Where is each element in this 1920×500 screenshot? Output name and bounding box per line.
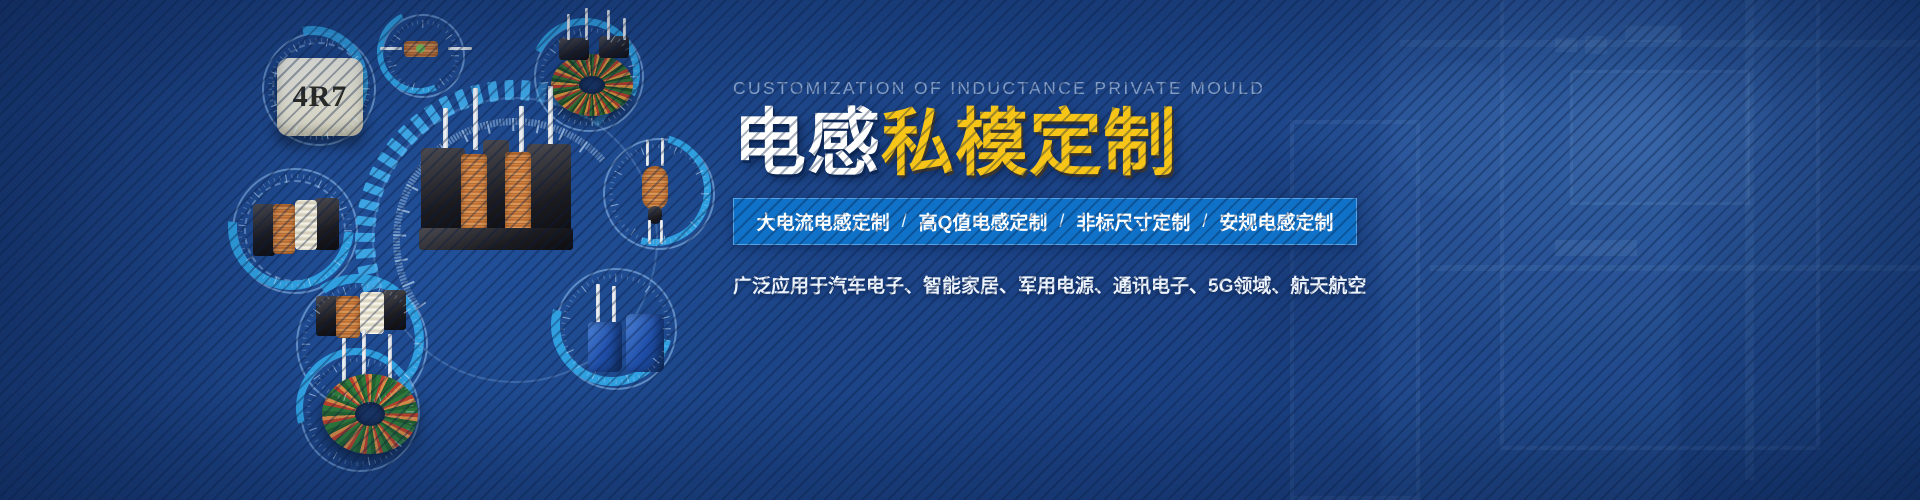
hud-ring-tick xyxy=(326,131,329,139)
hud-ring-tick xyxy=(566,305,570,308)
feature-list: 大电流电感定制 / 高Q值电感定制 / 非标尺寸定制 / 安规电感定制 xyxy=(757,208,1334,235)
hud-ring-tick xyxy=(348,224,352,226)
hud-ring-tick xyxy=(612,176,616,179)
hud-ring-tick xyxy=(410,313,414,316)
hud-ring-tick xyxy=(374,360,376,364)
hud-ring-tick xyxy=(410,417,414,419)
hud-ring-tick xyxy=(389,452,393,456)
hud-ring-tick xyxy=(268,94,272,96)
hud-ring-tick xyxy=(315,136,317,140)
hud-ring-tick xyxy=(543,58,547,61)
hud-ring-tick xyxy=(332,365,337,373)
hud-ring-tick xyxy=(564,345,568,348)
hud-ring-tick xyxy=(348,236,352,238)
hud-ring-tick xyxy=(406,411,414,412)
hud-ring-tick xyxy=(342,129,345,133)
hud-ring-green-toroid-ticks xyxy=(300,352,420,472)
hud-ring-tick xyxy=(659,299,663,302)
hud-ring-tick xyxy=(298,42,301,46)
feature-bar[interactable]: 大电流电感定制 / 高Q值电感定制 / 非标尺寸定制 / 安规电感定制 xyxy=(733,198,1357,245)
hud-ring-tick xyxy=(553,43,557,47)
feature-item-1[interactable]: 高Q值电感定制 xyxy=(919,208,1048,235)
hud-ring-tick xyxy=(641,147,645,155)
hud-ring-tick xyxy=(569,356,573,359)
hud-ring-tick xyxy=(652,240,654,244)
hud-ring-axial-ticks xyxy=(381,14,465,98)
hud-ring-tick xyxy=(699,215,703,218)
choke-core-left xyxy=(421,148,465,240)
hud-ring-tick xyxy=(306,405,310,407)
hud-ring-tick xyxy=(569,299,573,302)
hud-ring-tick xyxy=(285,175,288,183)
hud-ring-tick xyxy=(637,279,640,283)
hud-ring-tick xyxy=(625,156,629,160)
hud-ring-tick xyxy=(602,30,605,34)
hud-ring-tick xyxy=(546,98,550,101)
hud-ring-tick xyxy=(564,310,568,313)
hud-ring-tick xyxy=(406,84,409,88)
hud-ring-tick xyxy=(543,93,547,96)
hud-ring-tick xyxy=(628,98,632,101)
hud-ring-tick xyxy=(597,277,600,281)
hud-ring-tick xyxy=(334,260,341,266)
hud-ring-tick xyxy=(628,53,632,56)
hud-ring-tick xyxy=(337,196,341,200)
hud-ring-tick xyxy=(417,331,421,333)
hud-ring-tick xyxy=(562,35,565,39)
hud-ring-tick xyxy=(561,334,565,336)
hud-ring-tick xyxy=(307,366,311,369)
hud-ring-tick xyxy=(258,271,262,275)
hud-ring-tick xyxy=(246,256,254,261)
hud-ring-tick xyxy=(285,283,287,287)
hud-ring-tick xyxy=(663,328,671,329)
hud-ring-tick xyxy=(241,212,245,215)
hud-ring-tick xyxy=(283,51,287,55)
hud-ring-tick xyxy=(573,294,577,298)
eyebrow-text: CUSTOMIZATION OF INDUCTANCE PRIVATE MOUL… xyxy=(733,78,1393,99)
hud-ring-tick xyxy=(641,237,644,241)
hud-ring-tick xyxy=(453,65,457,68)
hud-ring-tick xyxy=(408,399,412,401)
hud-ring-tick xyxy=(445,78,449,82)
hud-ring-tick xyxy=(401,382,405,385)
hud-ring-tick xyxy=(307,278,310,286)
hud-ring-tick xyxy=(410,371,414,374)
hud-ring-tick xyxy=(591,118,593,126)
feature-separator-2: / xyxy=(1190,211,1219,232)
hud-ring-tick xyxy=(238,230,242,231)
hud-ring-tick xyxy=(313,308,320,314)
hud-ring-tick xyxy=(269,99,273,101)
hud-ring-tick xyxy=(249,196,253,200)
hud-ring-tick xyxy=(635,234,638,238)
hud-ring-tick xyxy=(384,365,387,369)
hud-ring-tick xyxy=(658,144,659,148)
hud-ring-tick xyxy=(362,358,364,362)
hud-ring-tick xyxy=(395,377,402,383)
hud-ring-tick xyxy=(350,461,352,465)
hud-ring-tick xyxy=(304,134,306,138)
hud-ring-tick xyxy=(417,355,421,357)
hud-ring-toroid-top-ticks xyxy=(534,22,644,132)
hud-ring-tick xyxy=(262,183,265,187)
hud-ring-tick xyxy=(351,51,355,55)
hud-ring-tick xyxy=(581,286,587,293)
hud-ring-tick xyxy=(615,274,616,282)
hud-ring-tick xyxy=(311,387,315,390)
hud-ring-tick xyxy=(239,242,243,244)
hud-ring-tick xyxy=(629,64,637,67)
hud-ring-tick xyxy=(345,247,349,250)
hud-ring-tick xyxy=(321,299,325,303)
hud-ring-tick xyxy=(317,180,322,188)
hud-ring-tick xyxy=(363,71,367,74)
hud-ring-tick xyxy=(703,181,707,183)
hud-ring-tick xyxy=(627,275,629,279)
hud-ring-tick xyxy=(379,458,382,462)
hud-ring-tick xyxy=(549,103,553,106)
hud-ring-tick xyxy=(667,334,671,336)
hud-ring-tick xyxy=(652,358,659,364)
hud-ring-tick xyxy=(557,108,563,115)
hud-ring-tick xyxy=(404,434,408,437)
hud-ring-tick xyxy=(288,126,292,130)
hud-ring-tick xyxy=(344,360,346,364)
hud-ring-tick xyxy=(279,56,283,60)
hud-ring-blue-inductor-ticks xyxy=(555,268,677,390)
hud-ring-tick xyxy=(415,361,419,364)
hud-ring-tick xyxy=(404,387,408,390)
hud-ring-tick xyxy=(632,377,635,381)
hud-ring-tick xyxy=(573,120,576,124)
hud-ring-tick xyxy=(690,221,697,227)
hud-ring-tick xyxy=(373,285,375,289)
hud-ring-tick xyxy=(367,359,370,367)
hud-ring-tick xyxy=(603,379,605,383)
hud-ring-tick xyxy=(634,82,638,84)
hud-ring-tick xyxy=(411,22,414,26)
hud-ring-tick xyxy=(332,40,334,44)
hud-ring-tick xyxy=(377,287,381,295)
hud-ring-tick xyxy=(411,82,415,90)
hud-ring-tick xyxy=(693,160,697,164)
hud-ring-tick xyxy=(273,109,277,112)
hud-ring-tick xyxy=(253,267,257,271)
machine-knob xyxy=(1655,222,1707,274)
feature-separator-0: / xyxy=(890,211,919,232)
hud-ring-tick xyxy=(631,93,635,96)
hud-ring-tick xyxy=(617,111,621,115)
component-common-mode-choke-large xyxy=(415,110,575,250)
hud-ring-tick xyxy=(451,70,455,73)
machine-switch-row xyxy=(1555,240,1637,256)
hud-ring-tick xyxy=(592,371,597,379)
hud-ring-tick xyxy=(262,274,265,278)
hud-ring-tick xyxy=(332,134,334,138)
hud-ring-tick xyxy=(418,349,422,351)
hud-ring-tick xyxy=(581,368,585,372)
hud-ring-tick xyxy=(645,286,651,293)
hud-ring-tick xyxy=(384,455,387,459)
hud-ring-tick xyxy=(445,34,452,40)
hud-ring-tick xyxy=(413,319,417,322)
hud-ring-tick xyxy=(658,240,659,244)
hud-ring-tick xyxy=(365,77,369,79)
hud-ring-tick xyxy=(675,237,678,241)
hud-ring-tick xyxy=(309,135,311,139)
hud-ring-tick xyxy=(655,294,659,298)
hud-ring-tick xyxy=(393,74,397,77)
hud-ring-tick xyxy=(331,292,334,296)
hud-ring-tick xyxy=(417,87,419,91)
hud-ring-tick xyxy=(630,152,633,156)
machine-arm xyxy=(1745,0,1771,150)
hud-ring-tick xyxy=(338,458,341,462)
hud-ring-tick xyxy=(591,28,593,32)
hud-ring-tick xyxy=(568,32,571,36)
hud-ring-tick xyxy=(621,224,625,228)
banner-copy: CUSTOMIZATION OF INDUCTANCE PRIVATE MOUL… xyxy=(733,78,1393,298)
hud-ring-tick xyxy=(597,29,599,33)
hud-ring-tick xyxy=(253,191,260,198)
hud-ring-tick xyxy=(393,34,400,40)
hud-ring-tick xyxy=(351,123,355,127)
hud-ring-tick xyxy=(326,39,329,47)
hud-ring-tick xyxy=(662,350,666,353)
hud-ring-tick xyxy=(243,253,247,256)
hud-ring-tick xyxy=(664,310,668,313)
hud-ring-tick xyxy=(271,103,279,107)
feature-item-2[interactable]: 非标尺寸定制 xyxy=(1076,208,1190,235)
hud-ring-tick xyxy=(669,238,671,242)
hud-ring-tick xyxy=(579,121,581,125)
hud-ring-tick xyxy=(689,228,693,232)
hud-ring-tick xyxy=(407,428,411,431)
choke-core-right xyxy=(527,144,571,236)
hud-ring-tick xyxy=(298,132,301,136)
hud-ring-tick xyxy=(406,24,409,28)
hud-ring-tick xyxy=(347,242,351,244)
hud-ring-tick xyxy=(546,53,550,56)
hud-ring-tick xyxy=(562,316,570,319)
machine-label-strip xyxy=(1625,26,1681,42)
hud-ring-tick xyxy=(387,60,391,62)
hud-ring-tick xyxy=(362,462,364,466)
headline-yellow: 私模定制 xyxy=(881,101,1177,186)
hud-ring-tick xyxy=(337,42,340,46)
hud-ring-tick xyxy=(340,201,344,204)
hud-ring-tick xyxy=(268,88,272,89)
hud-ring-tick xyxy=(609,193,613,194)
hud-ring-tick xyxy=(617,165,621,168)
hud-ring-tick xyxy=(304,40,306,44)
hud-ring-tick xyxy=(276,114,280,117)
hud-ring-tick xyxy=(413,366,417,369)
hud-ring-tick xyxy=(322,372,326,376)
hud-ring-tick xyxy=(561,328,565,329)
hud-ring-tick xyxy=(422,88,423,92)
hud-ring-tick xyxy=(340,258,344,261)
hud-ring-tick xyxy=(297,284,299,288)
feature-item-3[interactable]: 安规电感定制 xyxy=(1219,208,1333,235)
hud-ring-tick xyxy=(634,70,638,72)
hud-ring-tick xyxy=(608,117,611,121)
hud-ring-tick xyxy=(279,119,283,123)
hud-ring-tick xyxy=(448,74,452,77)
hud-ring-tick xyxy=(617,220,621,223)
hud-ring-tick xyxy=(361,284,362,288)
hud-ring-tick xyxy=(401,81,404,85)
hud-ring-tick xyxy=(408,423,412,425)
hud-ring-tick xyxy=(258,187,262,191)
hud-ring-tick xyxy=(324,183,327,187)
hud-ring-tick xyxy=(579,29,582,37)
hud-ring-tick xyxy=(243,206,247,209)
hud-ring-tick xyxy=(696,170,704,175)
hud-ring-tick xyxy=(540,81,548,83)
page-title: 电感私模定制 xyxy=(733,107,1393,181)
machine-indicator-a xyxy=(1555,38,1577,52)
hud-ring-tick xyxy=(350,359,352,363)
hud-ring-tick xyxy=(273,276,277,284)
hud-ring-tick xyxy=(293,44,298,52)
hud-ring-tick xyxy=(441,26,444,30)
hud-ring-tick xyxy=(345,212,349,215)
tagline-text: 广泛应用于汽车电子、智能家居、军用电源、通讯电子、5G领域、航天航空 xyxy=(733,271,1393,298)
hud-ring-tick xyxy=(303,283,305,287)
hud-ring-tick xyxy=(343,253,347,256)
hud-ring-tick xyxy=(586,282,589,286)
headline-white: 电感 xyxy=(733,101,881,186)
hud-ring-flatwire-ticks xyxy=(232,168,358,294)
hud-ring-tick xyxy=(306,411,310,412)
hud-ring-tick xyxy=(631,58,635,61)
hud-ring-tick xyxy=(329,271,333,275)
hud-ring-tick xyxy=(349,285,351,289)
machine-indicator-b xyxy=(1585,36,1607,54)
hud-ring-tick xyxy=(268,180,271,184)
hud-ring-tick xyxy=(387,55,391,56)
hud-ring-tick xyxy=(347,218,351,220)
hud-ring-tick xyxy=(610,203,618,206)
hud-ring-tick xyxy=(291,174,293,178)
hud-ring-tick xyxy=(306,417,310,419)
hud-ring-tick xyxy=(399,299,403,303)
hud-ring-tick xyxy=(279,176,281,180)
hud-ring-tick xyxy=(597,121,599,125)
hud-ring-tick xyxy=(384,289,387,293)
hud-ring-tick xyxy=(705,187,709,189)
hud-ring-tick xyxy=(585,122,587,126)
hud-ring-tick xyxy=(333,191,337,195)
hud-ring-tick xyxy=(403,303,407,307)
hud-ring-tick xyxy=(540,70,544,72)
hud-ring-tick xyxy=(541,88,545,90)
hud-ring-tick xyxy=(453,44,457,47)
hud-ring-tick xyxy=(309,39,311,43)
hud-ring-tick xyxy=(307,399,311,401)
feature-item-0[interactable]: 大电流电感定制 xyxy=(757,208,890,235)
hud-ring-tick xyxy=(358,60,362,63)
hud-ring-tick xyxy=(249,263,253,267)
hud-ring-tick xyxy=(669,145,671,149)
hud-ring-tick xyxy=(573,360,577,364)
hud-ring-tick xyxy=(276,60,280,63)
hud-ring-rodcore-ticks xyxy=(603,138,715,250)
machine-panel-frame xyxy=(1500,0,1820,450)
hud-ring-tick xyxy=(664,345,668,348)
hud-ring-tick xyxy=(337,289,340,293)
hud-ring-tick xyxy=(343,287,347,295)
hud-ring-tick xyxy=(618,105,625,111)
hud-ring-tick xyxy=(568,117,571,121)
hud-ring-tick xyxy=(239,218,243,220)
hud-ring-tick xyxy=(422,20,423,28)
hud-ring-tick xyxy=(610,181,614,183)
hud-ring-tick xyxy=(696,220,700,223)
hud-ring-tick xyxy=(273,65,277,68)
hud-ring-tick xyxy=(318,444,322,448)
hud-ring-tick xyxy=(418,337,422,339)
hud-ring-tick xyxy=(317,303,321,307)
hud-ring-tick xyxy=(367,457,370,465)
hud-ring-tick xyxy=(632,88,636,90)
hud-ring-tick xyxy=(673,147,677,155)
hud-ring-tick xyxy=(387,50,391,52)
hud-ring-tick xyxy=(389,292,392,296)
hud-ring-tick xyxy=(603,275,605,279)
hud-ring-tick xyxy=(307,319,311,322)
hud-ring-tick xyxy=(540,76,544,77)
hud-ring-tick xyxy=(315,38,317,42)
hud-ring-tick xyxy=(573,30,576,34)
hud-ring-tick xyxy=(307,423,311,425)
hud-ring-tick xyxy=(410,405,414,407)
hud-ring-tick xyxy=(612,210,616,213)
hud-ring-tick xyxy=(303,175,305,179)
hud-ring-tick xyxy=(427,20,429,24)
hud-ring-tick xyxy=(613,115,616,119)
hud-ring-tick xyxy=(319,277,322,281)
hud-ring-tick xyxy=(269,77,273,79)
hud-ring-tick xyxy=(662,316,670,319)
hud-ring-tick xyxy=(626,375,629,383)
hud-ring-tick xyxy=(635,149,638,153)
hud-ring-tick xyxy=(696,165,700,168)
hud-ring-tick xyxy=(586,372,589,376)
hud-ring-tick xyxy=(685,231,688,235)
hud-ring-tick xyxy=(615,380,616,384)
hud-ring-tick xyxy=(321,136,323,140)
hud-ring-tick xyxy=(432,22,435,26)
hud-ring-tick xyxy=(327,368,331,372)
hud-ring-tick xyxy=(630,76,638,77)
hud-ring-tick xyxy=(339,206,347,211)
hud-ring-tick xyxy=(652,365,656,369)
hud-ring-tick xyxy=(445,30,449,34)
hud-ring-tick xyxy=(268,82,272,84)
hud-ring-tick xyxy=(389,368,393,372)
hud-ring-tick xyxy=(366,82,370,84)
hud-ring-tick xyxy=(439,78,445,85)
hud-ring-tick xyxy=(608,32,611,36)
hud-ring-tick xyxy=(309,393,317,397)
hud-ring-tick xyxy=(302,337,306,339)
hud-ring-tick xyxy=(451,55,459,56)
hud-ring-tick xyxy=(365,99,369,101)
choke-base xyxy=(419,228,573,250)
